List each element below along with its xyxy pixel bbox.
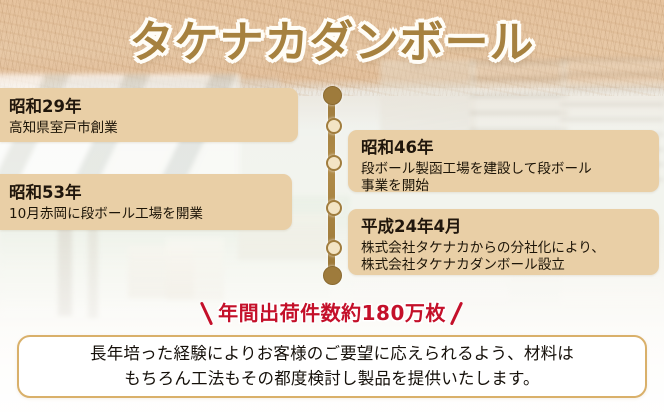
infographic-poster: タケナカダンボール 昭和29年 高知県室戸市創業 昭和53年 10月赤岡に段ボー… bbox=[0, 0, 664, 412]
event-description: 段ボール製函工場を建設して段ボール 事業を開始 bbox=[361, 161, 649, 196]
event-description: 株式会社タケナカからの分社化により、 株式会社タケナカダンボール設立 bbox=[361, 240, 649, 275]
event-description: 高知県室戸市創業 bbox=[9, 120, 286, 137]
timeline-node-4 bbox=[326, 240, 342, 256]
event-year: 昭和53年 bbox=[9, 184, 280, 203]
message-box: 長年培った経験によりお客様のご要望に応えられるよう、材料は もちろん工法もその都… bbox=[17, 335, 647, 398]
timeline-event-showa29: 昭和29年 高知県室戸市創業 bbox=[0, 88, 298, 142]
timeline-event-showa46: 昭和46年 段ボール製函工場を建設して段ボール 事業を開始 bbox=[348, 130, 659, 192]
highlight-text: 年間出荷件数約180万枚 bbox=[218, 297, 446, 326]
message-line-1: 長年培った経験によりお客様のご要望に応えられるよう、材料は bbox=[90, 342, 574, 366]
page-title: タケナカダンボール bbox=[0, 6, 664, 70]
timeline-node-end bbox=[323, 266, 342, 285]
event-year: 平成24年4月 bbox=[361, 218, 649, 237]
timeline-node-2 bbox=[326, 155, 342, 171]
event-year: 昭和46年 bbox=[361, 139, 649, 158]
timeline-node-1 bbox=[326, 118, 342, 134]
slash-right-icon bbox=[446, 300, 468, 324]
timeline-event-showa53: 昭和53年 10月赤岡に段ボール工場を開業 bbox=[0, 174, 292, 230]
timeline-node-start bbox=[323, 86, 342, 105]
message-line-2: もちろん工法もその都度検討し製品を提供いたします。 bbox=[124, 367, 540, 391]
slash-left-icon bbox=[196, 300, 218, 324]
event-description: 10月赤岡に段ボール工場を開業 bbox=[9, 206, 280, 223]
highlight-banner: 年間出荷件数約180万枚 bbox=[0, 297, 664, 326]
event-year: 昭和29年 bbox=[9, 98, 286, 117]
timeline-node-3 bbox=[326, 200, 342, 216]
timeline-event-heisei24: 平成24年4月 株式会社タケナカからの分社化により、 株式会社タケナカダンボール… bbox=[348, 209, 659, 275]
